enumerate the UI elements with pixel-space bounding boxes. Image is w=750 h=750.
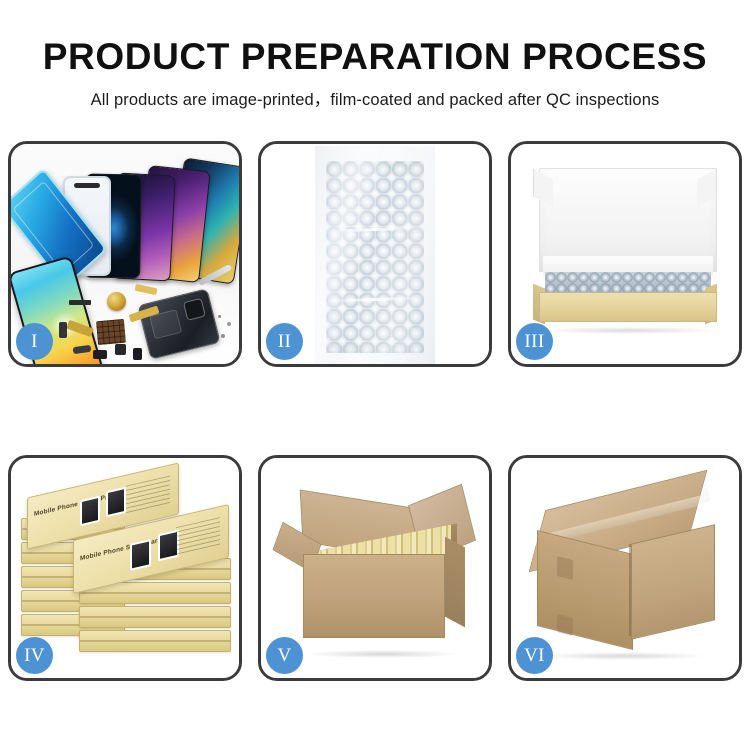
- step-badge-2: II: [266, 323, 303, 360]
- sealed-carton-side-icon: [631, 524, 715, 639]
- box-window-phone-icon: [106, 487, 126, 518]
- small-module-part-icon: [93, 350, 107, 359]
- step-badge-1: I: [16, 323, 53, 360]
- camera-module-part-icon: [59, 322, 67, 338]
- step-card-1: I: [8, 141, 242, 367]
- step-badge-3: III: [516, 323, 553, 360]
- screw-part-icon: [218, 315, 221, 318]
- phone-back-housing-icon: [137, 288, 220, 360]
- box-label-text: Mobile Phone Spare Parts: [80, 536, 164, 562]
- step-card-3: III: [508, 141, 742, 367]
- small-module-part-icon: [115, 344, 126, 355]
- steps-grid: I II: [8, 141, 742, 699]
- flex-cable-part-icon: [135, 284, 158, 295]
- carton-hand-hole-icon: [557, 614, 573, 636]
- step-card-5: V: [258, 455, 492, 681]
- drop-shadow: [543, 652, 703, 660]
- step-badge-4: IV: [16, 637, 53, 674]
- step-badge-5: V: [266, 637, 303, 674]
- bubble-pattern-offset-icon: [326, 161, 424, 353]
- bubble-wrapped-contents-icon: [545, 272, 711, 294]
- box-window-phone-icon: [130, 539, 151, 571]
- chip-grid-part-icon: [96, 319, 126, 345]
- carton-hand-hole-icon: [557, 556, 573, 580]
- drop-shadow: [307, 650, 457, 658]
- retail-box-icon: [79, 630, 231, 652]
- carton-edge-seam: [629, 544, 631, 636]
- step-badge-6: VI: [516, 637, 553, 674]
- small-module-part-icon: [133, 348, 142, 360]
- box-window-phone-icon: [80, 496, 100, 527]
- screw-part-icon: [221, 334, 225, 338]
- drop-shadow: [545, 327, 713, 334]
- step-card-4: Mobile Phone Spare Parts Mobile Phone Sp…: [8, 455, 242, 681]
- retail-box-icon: [79, 606, 231, 628]
- screw-part-icon: [227, 322, 231, 326]
- carton-front-icon: [303, 554, 445, 638]
- page-subtitle: All products are image-printed，film-coat…: [0, 86, 750, 110]
- box-spec-lines: [126, 476, 170, 516]
- connector-bar-part-icon: [69, 300, 91, 305]
- coil-part-icon: [107, 292, 126, 311]
- step-card-2: II: [258, 141, 492, 367]
- box-spec-lines: [176, 517, 220, 557]
- header: PRODUCT PREPARATION PROCESS All products…: [0, 0, 750, 130]
- carton-side-icon: [445, 537, 465, 628]
- step-card-6: VI: [508, 455, 742, 681]
- box-stack: Mobile Phone Spare Parts Mobile Phone Sp…: [21, 472, 233, 668]
- product-preparation-process-infographic: PRODUCT PREPARATION PROCESS All products…: [0, 0, 750, 750]
- kraft-box-front-icon: [539, 292, 717, 322]
- page-title: PRODUCT PREPARATION PROCESS: [0, 36, 750, 78]
